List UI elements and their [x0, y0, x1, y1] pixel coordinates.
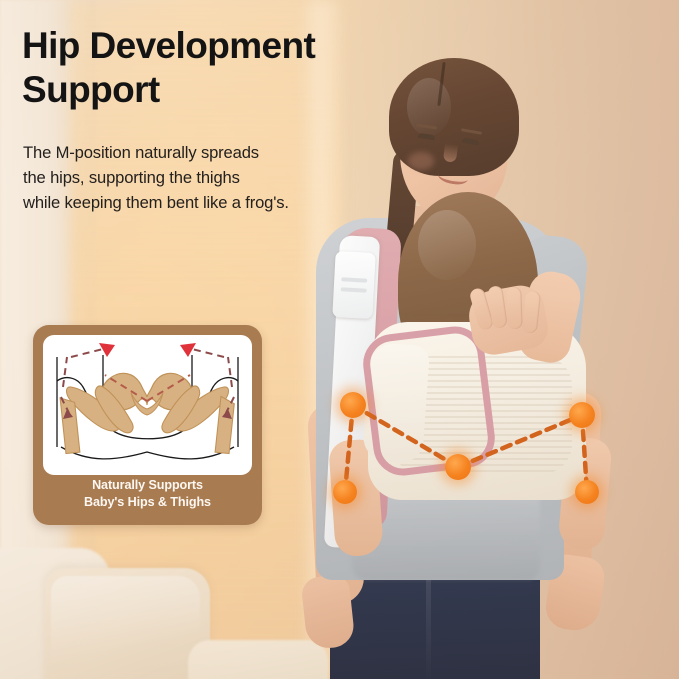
sofa-cushion — [45, 568, 210, 679]
caption-line-2: Baby's Hips & Thighs — [33, 494, 262, 511]
title-line-2: Support — [22, 68, 402, 112]
caption-line-1: Naturally Supports — [33, 477, 262, 494]
body-line-3: while keeping them bent like a frog's. — [23, 191, 363, 216]
body-copy: The M-position naturally spreads the hip… — [23, 141, 363, 216]
title-line-1: Hip Development — [22, 24, 402, 68]
mother-cheek — [408, 152, 434, 170]
body-line-1: The M-position naturally spreads — [23, 141, 363, 166]
hip-anatomy-card: Naturally Supports Baby's Hips & Thighs — [33, 325, 262, 525]
carrier-buckle — [332, 251, 375, 319]
body-line-2: the hips, supporting the thighs — [23, 166, 363, 191]
page-title: Hip Development Support — [22, 24, 402, 111]
mother-fingers — [474, 286, 546, 332]
sofa-armrest — [188, 640, 328, 679]
pelvis-diagram-svg — [43, 335, 252, 475]
hip-anatomy-panel — [43, 335, 252, 475]
hip-anatomy-caption: Naturally Supports Baby's Hips & Thighs — [33, 477, 262, 510]
arrowheads — [99, 343, 196, 357]
infographic-canvas: Hip Development Support The M-position n… — [0, 0, 679, 679]
